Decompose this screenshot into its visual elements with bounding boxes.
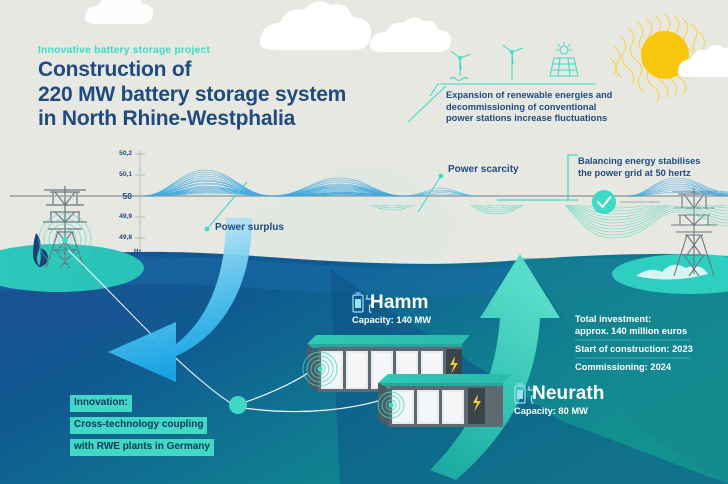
headline-line-2: 220 MW battery storage system	[38, 83, 398, 108]
annotation-balancing-line-1: Balancing energy stabilises	[578, 156, 728, 168]
axis-tick-50: 50	[104, 191, 132, 201]
innovation-line-1: Innovation:	[70, 395, 132, 412]
container-neurath	[378, 374, 512, 427]
axis-tick-49-8: 49,8	[104, 234, 132, 241]
fact-investment-label: Total investment:	[575, 314, 725, 326]
annotation-renewables-line-3: power stations increase fluctuations	[446, 113, 626, 125]
annotation-renewables-line-1: Expansion of renewable energies and	[446, 90, 626, 102]
annotation-renewables: Expansion of renewable energies and deco…	[446, 90, 626, 125]
innovation-callout: Innovation: Cross-technology coupling wi…	[70, 392, 250, 458]
fact-start-construction: Start of construction: 2023	[575, 344, 725, 356]
innovation-line-2: Cross-technology coupling	[70, 417, 207, 434]
headline-line-1: Construction of	[38, 58, 398, 83]
plant-capacity-hamm: Capacity: 140 MW	[352, 315, 431, 325]
axis-unit-hz: Hz	[134, 249, 141, 255]
plant-name-neurath: Neurath	[532, 383, 605, 405]
axis-tick-49-9: 49,9	[104, 213, 132, 220]
fact-investment: Total investment: approx. 140 million eu…	[575, 314, 725, 337]
page-title: Construction of 220 MW battery storage s…	[38, 58, 398, 132]
plant-name-hamm: Hamm	[370, 292, 428, 314]
annotation-balancing: Balancing energy stabilises the power gr…	[578, 156, 728, 179]
axis-tick-50-1: 50,1	[104, 171, 132, 178]
plant-capacity-neurath: Capacity: 80 MW	[514, 406, 588, 416]
fact-commissioning: Commissioning: 2024	[575, 362, 725, 374]
callout-power-scarcity: Power scarcity	[448, 164, 519, 175]
annotation-balancing-line-2: the power grid at 50 hertz	[578, 168, 728, 180]
headline-line-3: in North Rhine-Westphalia	[38, 107, 398, 132]
fact-investment-value: approx. 140 million euros	[575, 326, 725, 338]
kicker: Innovative battery storage project	[38, 44, 210, 56]
callout-power-surplus: Power surplus	[215, 222, 284, 233]
annotation-renewables-line-2: decommissioning of conventional	[446, 102, 626, 114]
infographic-canvas: Innovative battery storage project Const…	[0, 0, 728, 484]
axis-tick-50-2: 50,2	[104, 150, 132, 157]
innovation-line-3: with RWE plants in Germany	[70, 439, 214, 456]
